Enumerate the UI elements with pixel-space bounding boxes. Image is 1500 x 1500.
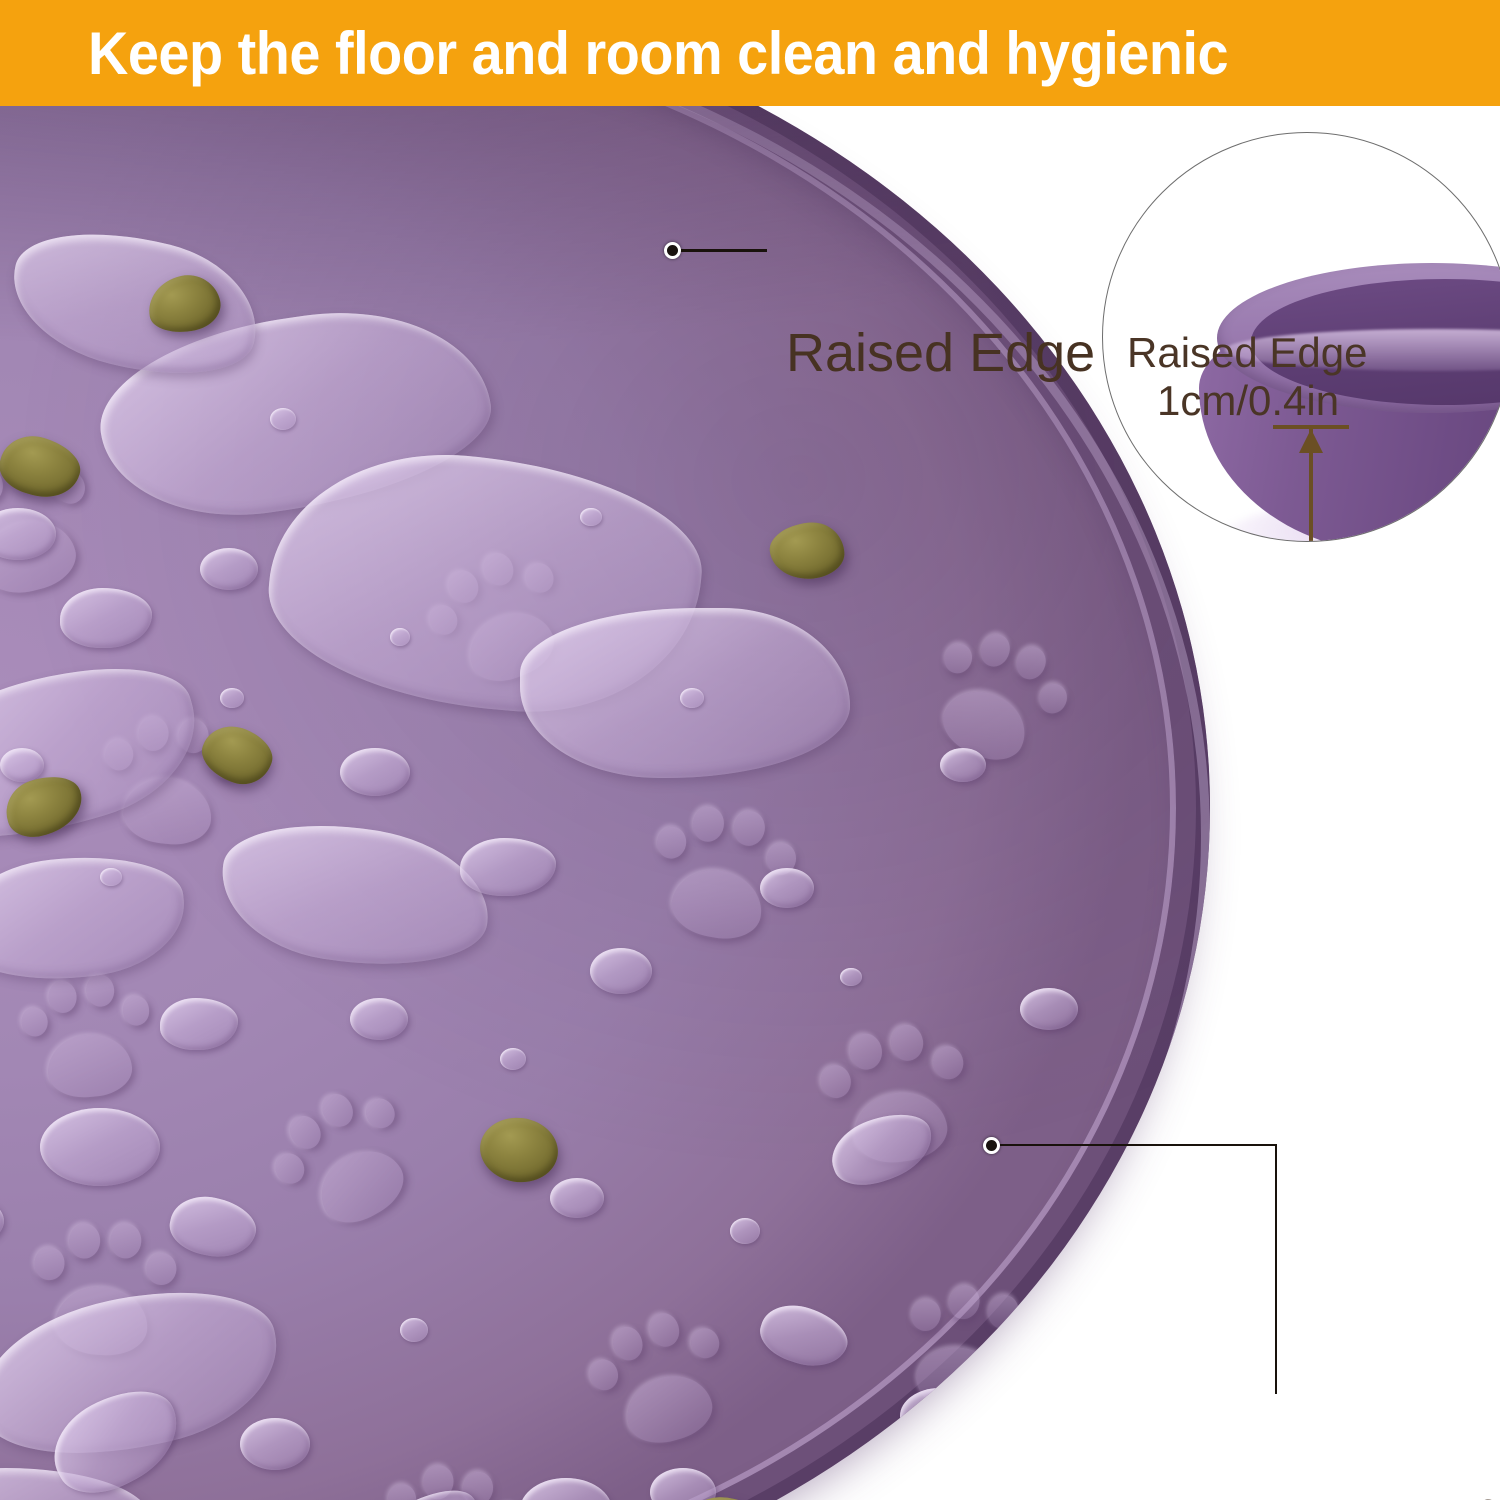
water-droplet	[1020, 988, 1078, 1030]
kibble-piece	[684, 1490, 769, 1500]
water-droplet	[165, 1190, 261, 1265]
water-droplet	[322, 1470, 498, 1500]
water-droplet	[550, 1178, 604, 1218]
mat-raised-rim	[0, 106, 1210, 1500]
water-puddle	[260, 440, 710, 727]
headline-text: Keep the floor and room clean and hygien…	[88, 19, 1228, 88]
kibble-piece	[143, 269, 225, 339]
kibble-piece	[1051, 1226, 1140, 1308]
waterproof-label: 100% waterproof	[1068, 1488, 1491, 1500]
paw-print	[93, 701, 249, 857]
paw-print	[638, 786, 807, 955]
water-droplet	[40, 1108, 160, 1186]
water-droplet	[823, 1102, 942, 1196]
headline-banner: Keep the floor and room clean and hygien…	[0, 0, 1500, 106]
water-droplet	[754, 1296, 855, 1376]
water-droplet	[100, 868, 122, 886]
paw-print	[0, 432, 111, 614]
kibble-piece	[0, 767, 90, 844]
paw-print	[14, 962, 159, 1107]
inset-measurement: 1cm/0.4in	[1157, 377, 1339, 424]
water-droplet	[580, 508, 602, 526]
water-droplet	[810, 548, 830, 564]
water-droplet	[160, 998, 238, 1050]
water-droplet	[680, 688, 704, 708]
raised-edge-label: Raised Edge	[786, 322, 1095, 384]
paw-print	[249, 1062, 440, 1253]
water-droplet	[520, 1478, 612, 1500]
paw-print	[409, 527, 589, 707]
water-droplet	[500, 1048, 526, 1070]
water-droplet	[940, 748, 986, 782]
inset-title: Raised Edge	[1127, 329, 1368, 376]
kibble-piece	[194, 717, 279, 793]
kibble-piece	[476, 1113, 562, 1187]
paw-print	[367, 1445, 535, 1500]
product-photo: Raised Edge 100% waterproof Raised Edge …	[0, 106, 1500, 1500]
water-droplet	[730, 1218, 760, 1244]
water-droplet	[590, 948, 652, 994]
water-droplet	[240, 1418, 310, 1470]
water-puddle	[89, 292, 502, 534]
water-droplet	[390, 628, 410, 646]
waterproof-leader-vertical	[1275, 1144, 1277, 1394]
water-droplet	[270, 408, 296, 430]
water-droplet	[350, 998, 408, 1040]
water-droplet	[460, 838, 556, 896]
water-droplet	[760, 868, 814, 908]
paw-print	[881, 1259, 1062, 1440]
water-droplet	[200, 548, 258, 590]
raised-edge-leader-line	[681, 249, 767, 252]
water-puddle	[211, 808, 499, 984]
mat-outer-skirt	[0, 106, 1210, 1500]
waterproof-marker[interactable]	[983, 1137, 1000, 1154]
water-puddle	[0, 846, 191, 989]
water-droplet	[840, 968, 862, 986]
kibble-piece	[0, 428, 86, 506]
mat-shading	[0, 106, 1210, 1500]
water-droplet	[0, 1198, 4, 1244]
kibble-piece	[767, 519, 846, 582]
water-droplet	[0, 748, 44, 782]
dimension-arrowhead-up	[1299, 429, 1323, 453]
water-droplet	[400, 1318, 428, 1342]
water-puddle	[520, 608, 850, 778]
water-puddle	[0, 1468, 150, 1500]
water-droplet	[340, 748, 410, 796]
water-droplet	[650, 1468, 716, 1500]
paw-print	[573, 1291, 746, 1464]
water-droplet	[38, 1372, 195, 1500]
raised-edge-inset-circle: Raised Edge 1cm/0.4in	[1102, 132, 1500, 542]
product-feature-image: Keep the floor and room clean and hygien…	[0, 0, 1500, 1500]
raised-edge-marker[interactable]	[664, 242, 681, 259]
water-droplet	[220, 688, 244, 708]
water-puddle	[0, 210, 272, 397]
silicone-mat	[0, 106, 1210, 1500]
paw-print	[908, 606, 1088, 786]
water-droplet	[0, 508, 56, 560]
paw-print	[810, 1008, 979, 1177]
water-droplet	[900, 1388, 980, 1444]
paw-print	[25, 1208, 183, 1366]
waterproof-leader-horizontal	[1000, 1144, 1277, 1146]
water-droplet	[60, 588, 152, 648]
water-puddle	[0, 640, 215, 867]
mat-rim-highlight	[0, 106, 1210, 1500]
water-puddle	[0, 1268, 292, 1477]
